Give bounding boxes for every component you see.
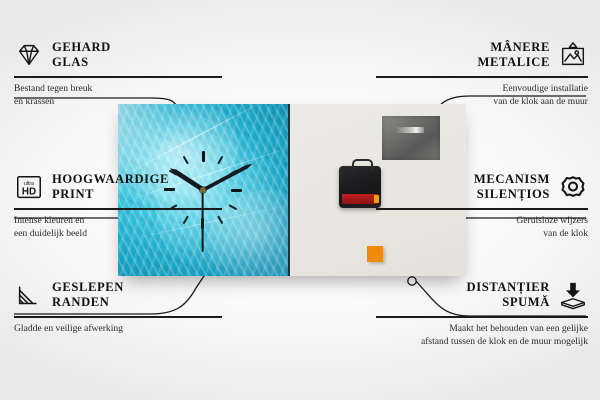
callout-description: Gladde en veilige afwerking [14, 323, 222, 336]
callout-description: Geruisloze wijzers van de klok [376, 215, 588, 241]
callout-title: MECANISM SILENȚIOS [474, 172, 550, 202]
picture-frame-icon [558, 40, 588, 70]
callout-title: GEHARD GLAS [52, 40, 111, 70]
callout-divider [376, 316, 588, 318]
clock-mechanism [339, 166, 381, 208]
metal-hanger [382, 116, 440, 160]
bevelled-edge-icon [14, 280, 44, 310]
callout-title: MÂNERE METALICE [478, 40, 550, 70]
callout-distantier-spuma: DISTANȚIER SPUMĂ Maakt het behouden van … [376, 276, 588, 348]
diamond-icon [14, 40, 44, 70]
hanger-slot [396, 127, 424, 133]
callout-gehard-glas: GEHARD GLAS Bestand tegen breuk en krass… [14, 36, 222, 108]
callout-description: Intense kleuren en een duidelijk beeld [14, 215, 222, 241]
callout-title: GESLEPEN RANDEN [52, 280, 124, 310]
callout-description: Eenvoudige installatie van de klok aan d… [376, 83, 588, 109]
callout-hoogwaardige-print: ultra HD HOOGWAARDIGE PRINT Intense kleu… [14, 168, 222, 240]
battery [342, 194, 378, 204]
callout-divider [14, 208, 222, 210]
callout-description: Bestand tegen breuk en krassen [14, 83, 222, 109]
callout-mecanism-silentios: MECANISM SILENȚIOS Geruisloze wijzers va… [376, 168, 588, 240]
callout-geslepen-randen: GESLEPEN RANDEN Gladde en veilige afwerk… [14, 276, 222, 336]
gear-icon [558, 172, 588, 202]
callout-divider [14, 76, 222, 78]
callout-divider [376, 76, 588, 78]
foam-spacer [367, 246, 383, 262]
svg-text:HD: HD [22, 187, 36, 198]
callout-manere-metalice: MÂNERE METALICE Eenvoudige installatie v… [376, 36, 588, 108]
ultra-hd-icon: ultra HD [14, 172, 44, 202]
infographic-stage: GEHARD GLAS Bestand tegen breuk en krass… [0, 0, 600, 400]
spacer-arrow-icon [558, 280, 588, 310]
callout-description: Maakt het behouden van een gelijke afsta… [376, 323, 588, 349]
mechanism-loop [352, 159, 373, 170]
callout-title: DISTANȚIER SPUMĂ [467, 280, 550, 310]
callout-divider [14, 316, 222, 318]
callout-divider [376, 208, 588, 210]
callout-title: HOOGWAARDIGE PRINT [52, 172, 169, 202]
